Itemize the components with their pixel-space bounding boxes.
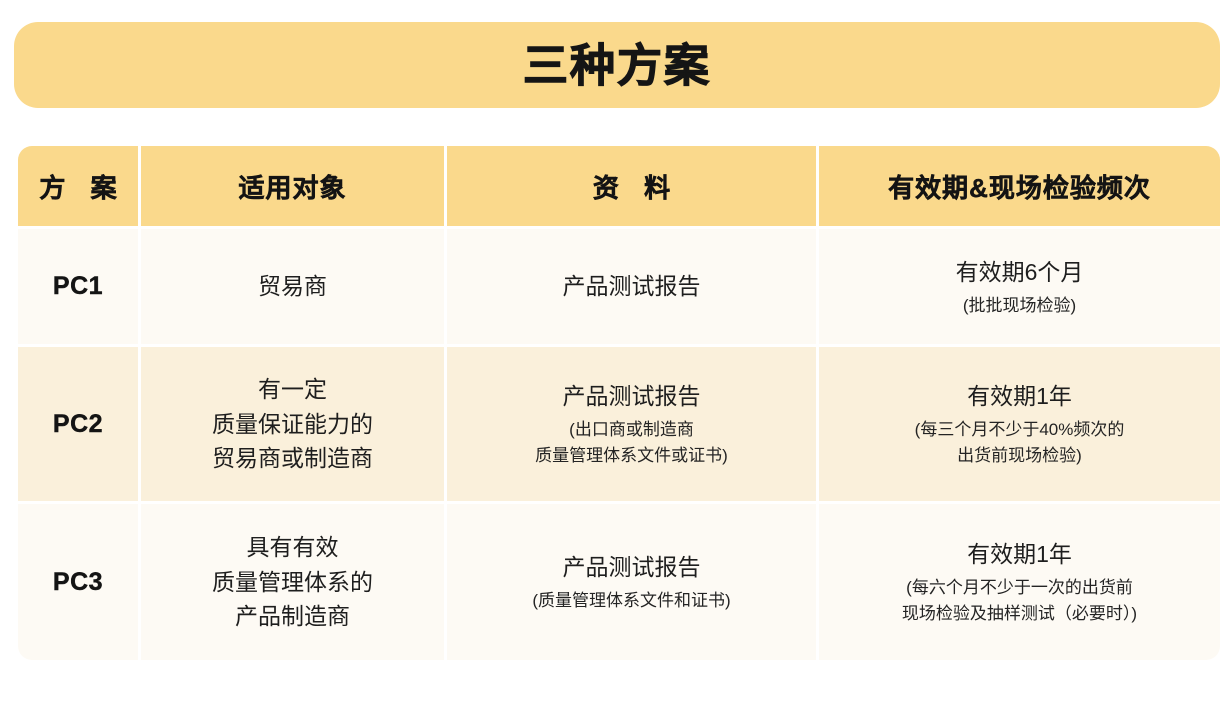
docs-main-line: 产品测试报告 xyxy=(563,550,701,585)
cell-docs-pc2: 产品测试报告 (出口商或制造商 质量管理体系文件或证书) xyxy=(444,344,816,501)
docs-main-line: 产品测试报告 xyxy=(563,269,701,304)
docs-sub-line: (出口商或制造商 xyxy=(569,418,694,442)
audience-line: 有一定 xyxy=(258,372,327,407)
column-header-plan-label: 方 案 xyxy=(30,168,125,205)
validity-sub-line: 出货前现场检验) xyxy=(957,444,1082,468)
audience-line: 具有有效 xyxy=(247,530,339,565)
cell-docs-pc3: 产品测试报告 (质量管理体系文件和证书) xyxy=(444,501,816,660)
cell-validity-pc2: 有效期1年 (每三个月不少于40%频次的 出货前现场检验) xyxy=(816,344,1220,501)
page-title: 三种方案 xyxy=(523,43,711,88)
audience-line: 产品制造商 xyxy=(235,599,350,634)
validity-main-line: 有效期1年 xyxy=(967,379,1072,414)
docs-main-line: 产品测试报告 xyxy=(563,379,701,414)
column-header-docs-label: 资 料 xyxy=(584,168,679,205)
validity-main-line: 有效期6个月 xyxy=(956,255,1084,290)
table-row: PC2 有一定 质量保证能力的 贸易商或制造商 产品测试报告 (出口商或制造商 … xyxy=(18,344,1220,501)
cell-plan-pc2: PC2 xyxy=(18,344,138,501)
plan-code: PC3 xyxy=(53,568,103,597)
column-header-audience: 适用对象 xyxy=(138,146,444,226)
cell-validity-pc3: 有效期1年 (每六个月不少于一次的出货前 现场检验及抽样测试（必要时）) xyxy=(816,501,1220,660)
plan-comparison-table: 方 案 适用对象 资 料 有效期&现场检验频次 PC1 贸易商 产品测试报告 有… xyxy=(18,146,1220,660)
audience-line: 质量管理体系的 xyxy=(212,565,373,600)
validity-sub-line: (每三个月不少于40%频次的 xyxy=(915,418,1125,442)
plan-code: PC1 xyxy=(53,272,103,301)
cell-audience-pc3: 具有有效 质量管理体系的 产品制造商 xyxy=(138,501,444,660)
cell-audience-pc1: 贸易商 xyxy=(138,226,444,344)
cell-validity-pc1: 有效期6个月 (批批现场检验) xyxy=(816,226,1220,344)
title-banner: 三种方案 xyxy=(14,22,1220,108)
column-header-plan: 方 案 xyxy=(18,146,138,226)
cell-audience-pc2: 有一定 质量保证能力的 贸易商或制造商 xyxy=(138,344,444,501)
validity-sub-line: (批批现场检验) xyxy=(963,294,1076,318)
audience-line: 贸易商或制造商 xyxy=(212,441,373,476)
cell-plan-pc1: PC1 xyxy=(18,226,138,344)
validity-main-line: 有效期1年 xyxy=(967,537,1072,572)
table-header-row: 方 案 适用对象 资 料 有效期&现场检验频次 xyxy=(18,146,1220,226)
validity-sub-line: 现场检验及抽样测试（必要时）) xyxy=(902,602,1137,626)
cell-plan-pc3: PC3 xyxy=(18,501,138,660)
docs-sub-line: (质量管理体系文件和证书) xyxy=(532,589,730,613)
column-header-docs: 资 料 xyxy=(444,146,816,226)
docs-sub-line: 质量管理体系文件或证书) xyxy=(535,444,728,468)
table-row: PC3 具有有效 质量管理体系的 产品制造商 产品测试报告 (质量管理体系文件和… xyxy=(18,501,1220,660)
table-row: PC1 贸易商 产品测试报告 有效期6个月 (批批现场检验) xyxy=(18,226,1220,344)
column-header-audience-label: 适用对象 xyxy=(238,168,346,205)
cell-docs-pc1: 产品测试报告 xyxy=(444,226,816,344)
plan-code: PC2 xyxy=(53,410,103,439)
column-header-validity: 有效期&现场检验频次 xyxy=(816,146,1220,226)
audience-line: 质量保证能力的 xyxy=(212,407,373,442)
audience-line: 贸易商 xyxy=(258,269,327,304)
validity-sub-line: (每六个月不少于一次的出货前 xyxy=(906,576,1133,600)
column-header-validity-label: 有效期&现场检验频次 xyxy=(888,168,1151,205)
